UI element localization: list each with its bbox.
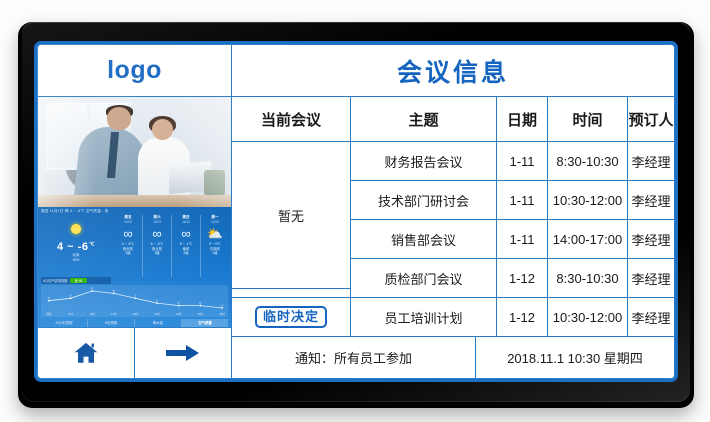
table-row: 技术部门研讨会 xyxy=(350,180,497,220)
sun-icon xyxy=(65,218,87,240)
table-row: 14:00-17:00 xyxy=(547,219,628,259)
screenshot-root: logo 会议信息 周四 11月1日 晴 xyxy=(0,0,710,422)
table-row: 1-12 xyxy=(496,258,548,298)
table-row: 8:30-10:30 xyxy=(547,258,628,298)
svg-text:3°: 3° xyxy=(134,294,136,298)
svg-text:-1°: -1° xyxy=(220,303,223,307)
table-row: 1-11 xyxy=(496,180,548,220)
svg-text:2°: 2° xyxy=(48,296,50,300)
notice-text: 通知：所有员工参加 xyxy=(231,336,476,379)
table-row: 1-11 xyxy=(496,219,548,259)
table-row: 李经理 xyxy=(627,219,675,259)
logo-cell[interactable]: logo xyxy=(37,44,232,97)
weather-forecast-day[interactable]: 周五 11/02 ∞ 4 ~ -5℃ 西北风 3级 xyxy=(114,215,142,277)
home-icon xyxy=(71,340,101,366)
page-title-text: 会议信息 xyxy=(397,53,509,89)
table-row: 10:30-12:00 xyxy=(547,180,628,220)
forecast-day-level: 3级 xyxy=(114,251,142,256)
weather-aqi-label: AQI空气质量指数 xyxy=(41,278,68,283)
photo-highlight xyxy=(38,97,231,207)
next-button[interactable] xyxy=(134,327,232,379)
table-row: 1-11 xyxy=(496,141,548,181)
weather-today-temp: 4 ~ -6℃ xyxy=(40,241,112,253)
status-badge: 临时决定 xyxy=(255,306,327,328)
datetime-text: 2018.11.1 10:30 星期四 xyxy=(475,336,675,379)
logo-text: logo xyxy=(107,56,162,85)
svg-text:3°: 3° xyxy=(69,294,71,298)
table-row: 10:30-12:00 xyxy=(547,297,628,337)
weather-aqi-bar: AQI空气质量指数 良 48 xyxy=(41,277,111,284)
cloudy-icon: ∞ xyxy=(143,224,171,242)
column-header-current: 当前会议 xyxy=(231,96,351,142)
svg-text:5°: 5° xyxy=(113,289,115,293)
table-row: 李经理 xyxy=(627,258,675,298)
weather-today-humidity: 35% xyxy=(40,258,112,263)
svg-text:1°: 1° xyxy=(156,299,158,303)
weather-today: 4 ~ -6℃ 北风 35% xyxy=(40,216,112,274)
svg-text:11时: 11时 xyxy=(68,312,74,316)
meeting-info-display: logo 会议信息 周四 11月1日 晴 xyxy=(37,44,675,379)
current-meeting-cell: 暂无 xyxy=(231,141,351,289)
weather-forecast-list: 周五 11/02 ∞ 4 ~ -5℃ 西北风 3级 周六 11/03 ∞ 6 ~… xyxy=(114,215,229,277)
svg-text:08时: 08时 xyxy=(219,312,225,316)
svg-text:23时: 23时 xyxy=(154,312,160,316)
table-row: 李经理 xyxy=(627,297,675,337)
forecast-day-level: 2级 xyxy=(172,251,200,256)
table-row: 李经理 xyxy=(627,141,675,181)
cloudy-icon: ∞ xyxy=(172,224,200,242)
media-column: 周四 11月1日 晴 4 ~ -6℃ 空气质量：良 4 ~ -6℃ 北风 35% xyxy=(37,96,232,328)
svg-text:05时: 05时 xyxy=(198,312,204,316)
weather-forecast-day[interactable]: 周日 11/04 ∞ 8 ~ -1℃ 南风 2级 xyxy=(171,215,200,277)
weather-widget[interactable]: 周四 11月1日 晴 4 ~ -6℃ 空气质量：良 4 ~ -6℃ 北风 35% xyxy=(38,207,231,328)
svg-text:6°: 6° xyxy=(91,286,93,290)
cloudy-icon: ∞ xyxy=(114,224,142,242)
temperature-trend-chart: 2°现在3°11时6°14时5°17时3°20时1°23时0°02时0°05时-… xyxy=(41,285,228,317)
table-row: 员工培训计划 xyxy=(350,297,497,337)
table-row: 销售部会议 xyxy=(350,219,497,259)
table-row: 质检部门会议 xyxy=(350,258,497,298)
forecast-day-level: 2级 xyxy=(201,251,229,256)
page-title: 会议信息 xyxy=(231,44,675,97)
svg-text:0°: 0° xyxy=(178,301,180,305)
table-row: 财务报告会议 xyxy=(350,141,497,181)
temporary-decision-cell[interactable]: 临时决定 xyxy=(231,297,351,337)
column-header-booker: 预订人 xyxy=(627,96,675,142)
column-header-topic: 主题 xyxy=(350,96,497,142)
column-header-time: 时间 xyxy=(547,96,628,142)
trend-svg: 2°现在3°11时6°14时5°17时3°20时1°23时0°02时0°05时-… xyxy=(41,285,228,317)
office-photo xyxy=(38,97,231,207)
svg-text:17时: 17时 xyxy=(111,312,117,316)
svg-text:0°: 0° xyxy=(199,301,201,305)
weather-forecast-day[interactable]: 周六 11/03 ∞ 6 ~ -3℃ 西北风 3级 xyxy=(142,215,171,277)
arrow-right-icon xyxy=(166,343,200,363)
svg-text:20时: 20时 xyxy=(133,312,139,316)
forecast-day-level: 3级 xyxy=(143,251,171,256)
sun-cloud-icon: ⛅ xyxy=(201,224,229,242)
svg-text:02时: 02时 xyxy=(176,312,182,316)
weather-aqi-value: 良 48 xyxy=(70,278,88,283)
table-row: 李经理 xyxy=(627,180,675,220)
table-row: 1-12 xyxy=(496,297,548,337)
table-row: 8:30-10:30 xyxy=(547,141,628,181)
home-button[interactable] xyxy=(37,327,135,379)
column-header-date: 日期 xyxy=(496,96,548,142)
svg-text:现在: 现在 xyxy=(46,312,52,316)
svg-text:14时: 14时 xyxy=(89,312,95,316)
weather-forecast-day[interactable]: 周一 11/05 ⛅ 9 ~ 0℃ 东南风 2级 xyxy=(200,215,229,277)
